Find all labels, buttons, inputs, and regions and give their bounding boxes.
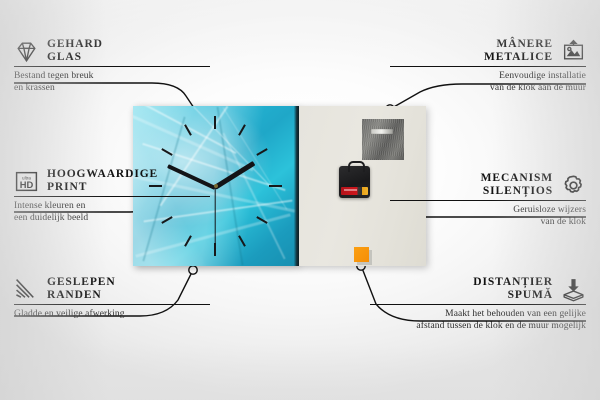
clock-tick [214, 116, 216, 129]
feature-head: MECANISMSILENȚIOS [390, 172, 586, 200]
feature-mecanism-silentios[interactable]: MECANISMSILENȚIOS Geruisloze wijzersvan … [390, 172, 586, 228]
quartz-mechanism [339, 166, 370, 198]
feature-desc: Geruisloze wijzersvan de klok [390, 201, 586, 228]
feature-title: DISTANȚIERSPUMĂ [473, 276, 553, 302]
feature-desc: Bestand tegen breuken krassen [14, 67, 210, 94]
feature-title: GEHARDGLAS [47, 38, 103, 64]
feature-manere-metalice[interactable]: MÂNEREMETALICE Eenvoudige installatievan… [390, 38, 586, 94]
gear-icon [561, 173, 586, 198]
feature-head: MÂNEREMETALICE [390, 38, 586, 66]
feature-gehard-glas[interactable]: GEHARDGLAS Bestand tegen breuken krassen [14, 38, 210, 94]
metal-hanger-plate [362, 119, 404, 160]
feature-head: GEHARDGLAS [14, 38, 210, 66]
feature-desc: Intense kleuren eneen duidelijk beeld [14, 197, 210, 224]
feature-head: DISTANȚIERSPUMĂ [370, 276, 586, 304]
mechanism-hook [348, 161, 365, 172]
clock-tick [269, 185, 282, 187]
feature-head: GESLEPENRANDEN [14, 276, 210, 304]
clock-pivot [214, 184, 218, 188]
feature-title: GESLEPENRANDEN [47, 276, 116, 302]
infographic-canvas: GEHARDGLAS Bestand tegen breuken krassen… [0, 0, 600, 400]
battery [341, 187, 368, 195]
hanger-slot [371, 129, 393, 134]
feature-hoogwaardige-print[interactable]: ultra HD HOOGWAARDIGEPRINT Intense kleur… [14, 168, 210, 224]
clock-tick [238, 124, 246, 135]
feature-geslepen-randen[interactable]: GESLEPENRANDEN Gladde en veilige afwerki… [14, 276, 210, 320]
picture-hanger-icon [561, 39, 586, 64]
ultra-hd-icon: ultra HD [14, 169, 39, 194]
clock-second-hand [214, 187, 215, 244]
feature-title: MECANISMSILENȚIOS [481, 172, 553, 198]
feature-title: HOOGWAARDIGEPRINT [47, 168, 158, 194]
diamond-icon [14, 39, 39, 64]
feature-distantier-spuma[interactable]: DISTANȚIERSPUMĂ Maakt het behouden van e… [370, 276, 586, 332]
feature-head: ultra HD HOOGWAARDIGEPRINT [14, 168, 210, 196]
feature-desc: Gladde en veilige afwerking [14, 305, 210, 320]
svg-text:HD: HD [20, 179, 34, 189]
clock-tick [256, 148, 267, 156]
feature-desc: Eenvoudige installatievan de klok aan de… [390, 67, 586, 94]
feature-desc: Maakt het behouden van een gelijkeafstan… [370, 305, 586, 332]
endpoint-geslepen-randen [189, 266, 197, 274]
beveled-edges-icon [14, 277, 39, 302]
feature-title: MÂNEREMETALICE [484, 38, 553, 64]
foam-spacer [354, 247, 369, 262]
clock-tick [214, 243, 216, 256]
foam-spacer-icon [561, 277, 586, 302]
